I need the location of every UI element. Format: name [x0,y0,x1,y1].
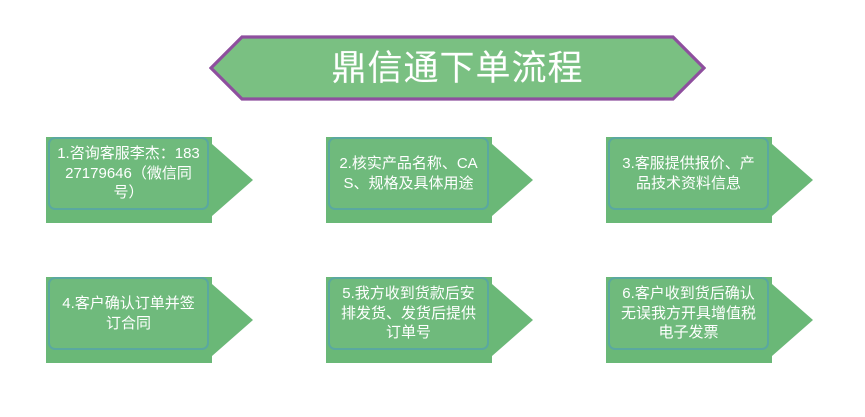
step-panel: 5.我方收到货款后安排发货、发货后提供订单号 [328,277,489,350]
flow-step-6[interactable]: 6.客户收到货后确认无误我方开具增值税电子发票 [606,277,814,363]
step-label: 6.客户收到货后确认无误我方开具增值税电子发票 [616,284,761,343]
step-panel: 3.客服提供报价、产品技术资料信息 [608,137,769,210]
step-panel: 2.核实产品名称、CAS、规格及具体用途 [328,137,489,210]
flow-step-4[interactable]: 4.客户确认订单并签订合同 [46,277,254,363]
step-panel: 4.客户确认订单并签订合同 [48,277,209,350]
step-label: 5.我方收到货款后安排发货、发货后提供订单号 [336,284,481,343]
step-label: 3.客服提供报价、产品技术资料信息 [616,154,761,194]
step-label: 4.客户确认订单并签订合同 [56,294,201,334]
flowchart-canvas: 鼎信通下单流程 1.咨询客服李杰：18327179646（微信同号） 2.核实产… [0,0,865,417]
flow-step-2[interactable]: 2.核实产品名称、CAS、规格及具体用途 [326,137,534,223]
flow-step-1[interactable]: 1.咨询客服李杰：18327179646（微信同号） [46,137,254,223]
page-title: 鼎信通下单流程 [209,35,706,101]
step-panel: 6.客户收到货后确认无误我方开具增值税电子发票 [608,277,769,350]
flow-step-5[interactable]: 5.我方收到货款后安排发货、发货后提供订单号 [326,277,534,363]
flow-step-3[interactable]: 3.客服提供报价、产品技术资料信息 [606,137,814,223]
step-label: 2.核实产品名称、CAS、规格及具体用途 [336,154,481,194]
step-label: 1.咨询客服李杰：18327179646（微信同号） [56,144,201,203]
step-panel: 1.咨询客服李杰：18327179646（微信同号） [48,137,209,210]
diagram-title-banner: 鼎信通下单流程 [209,35,706,101]
